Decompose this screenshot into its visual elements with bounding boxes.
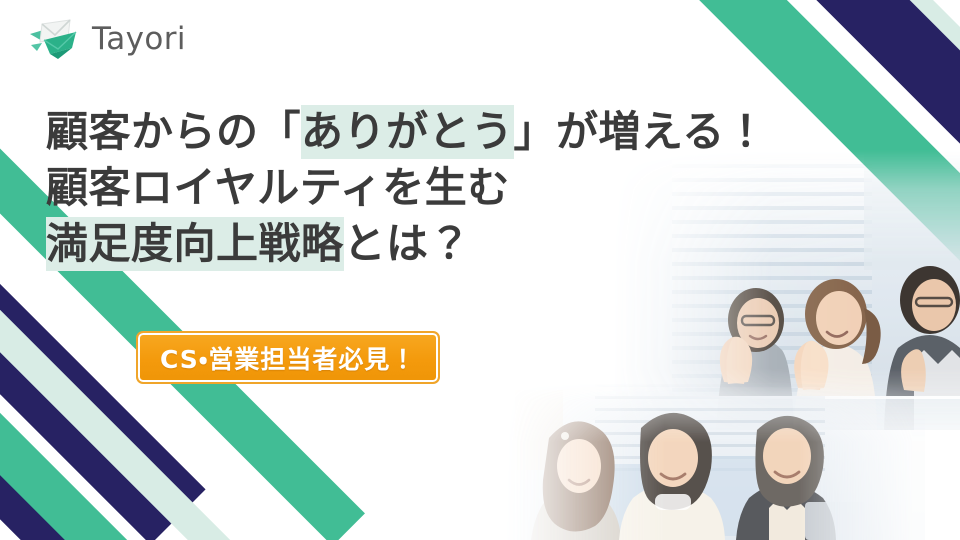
smiling-team-photo	[505, 382, 925, 540]
stripe-bottom-left-4	[0, 246, 115, 540]
brand-name: Tayori	[92, 24, 186, 55]
headline-text-3-2: とは？	[344, 219, 472, 268]
tayori-logo[interactable]: Tayori	[28, 18, 186, 60]
audience-badge[interactable]: CS・営業担当者必見！	[136, 331, 440, 384]
stripe-top-right-1	[604, 0, 960, 107]
headline-highlight-3-1: 満足度向上戦略	[46, 217, 344, 271]
stripe-bottom-left-6	[0, 231, 313, 540]
headline-line-2: 顧客ロイヤルティを生む	[46, 160, 876, 216]
stripe-bottom-left-8	[0, 380, 192, 540]
paper-plane-envelope-icon	[28, 18, 82, 60]
headline-line-1: 顧客からの「ありがとう」が増える！	[46, 104, 876, 160]
headline-text-1-3: 」が増える！	[514, 107, 768, 156]
headline-highlight-1-2: ありがとう	[301, 105, 514, 159]
headline-block: 顧客からの「ありがとう」が増える！顧客ロイヤルティを生む満足度向上戦略とは？	[46, 104, 876, 272]
stripe-bottom-left-7	[0, 377, 79, 540]
thumbnail-canvas: Tayori 顧客からの「ありがとう」が増える！顧客ロイヤルティを生む満足度向上…	[0, 0, 960, 540]
headline-text-1-1: 顧客からの「	[46, 107, 301, 156]
headline-line-3: 満足度向上戦略とは？	[46, 216, 876, 272]
headline-text-2-1: 顧客ロイヤルティを生む	[46, 163, 510, 212]
